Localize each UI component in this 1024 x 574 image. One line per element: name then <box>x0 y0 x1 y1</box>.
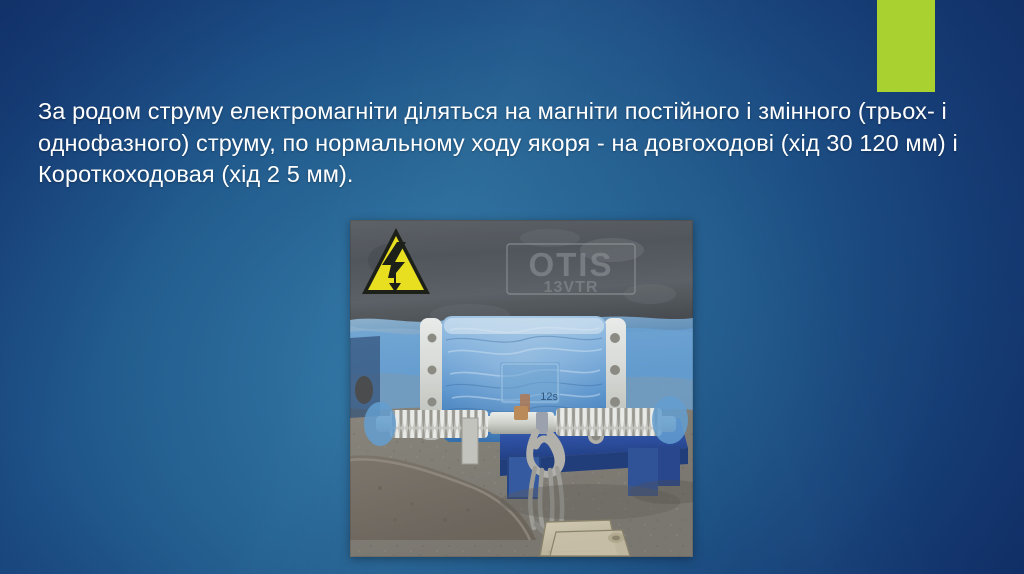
presentation-slide: За родом струму електромагніти діляться … <box>0 0 1024 574</box>
electromagnet-photo-image: OTIS 13VTR <box>350 220 693 557</box>
accent-bar-green <box>877 0 935 92</box>
slide-body-text: За родом струму електромагніти діляться … <box>38 96 988 191</box>
electromagnet-photo: OTIS 13VTR <box>350 220 693 557</box>
